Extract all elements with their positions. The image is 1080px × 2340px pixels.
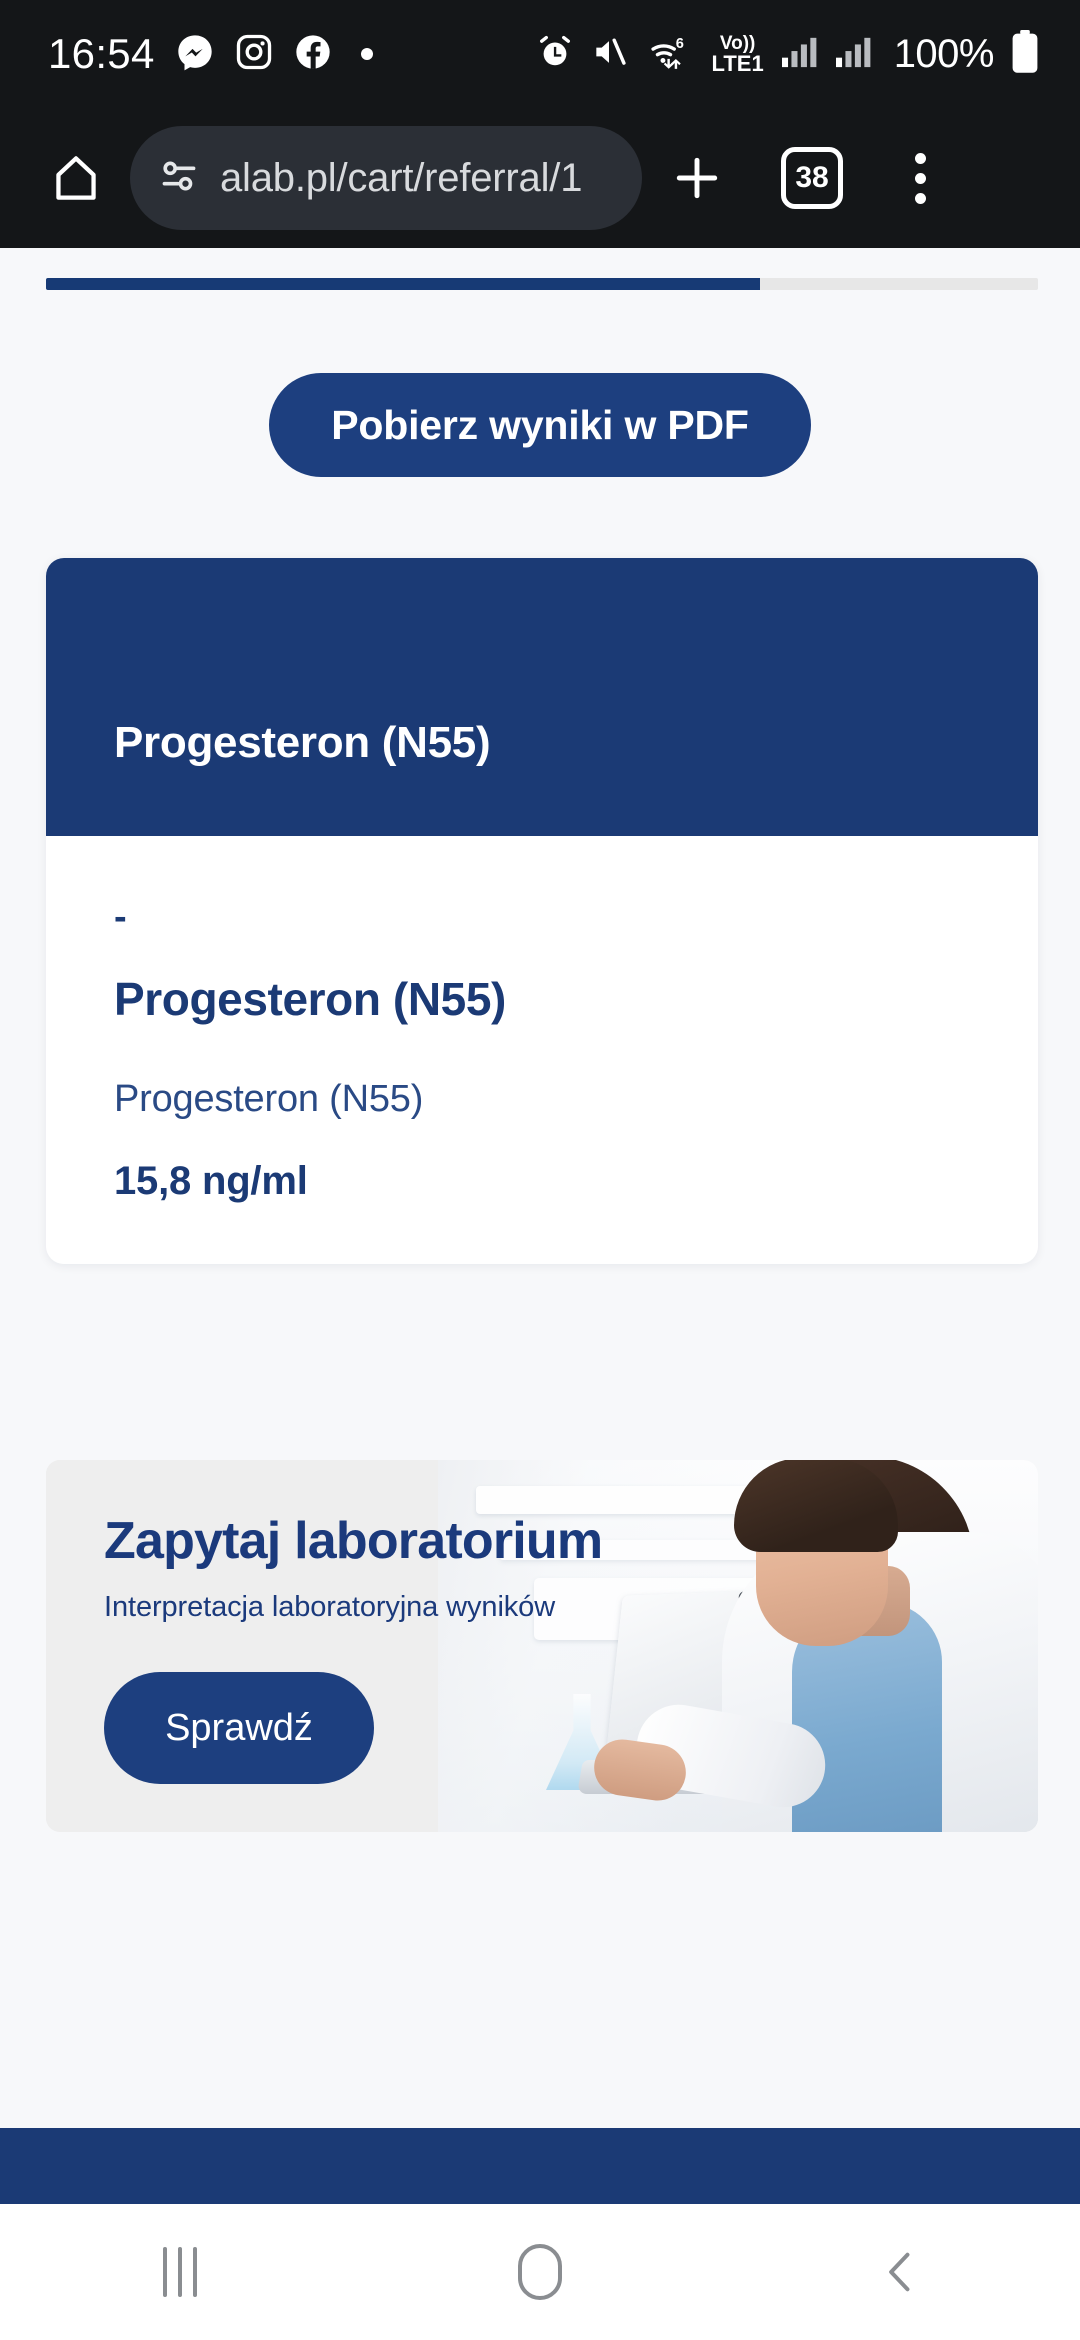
- url-bar[interactable]: alab.pl/cart/referral/1: [130, 126, 642, 230]
- menu-dot: [915, 193, 926, 204]
- plus-icon[interactable]: [642, 130, 752, 226]
- banner-title: Zapytaj laboratorium: [104, 1514, 724, 1569]
- tab-switcher-button[interactable]: 38: [752, 130, 872, 226]
- result-card-header: Progesteron (N55): [46, 558, 1038, 836]
- dot-icon: [361, 48, 373, 60]
- status-bar-left: 16:54: [48, 32, 373, 77]
- ask-lab-banner[interactable]: Zapytaj laboratorium Interpretacja labor…: [46, 1460, 1038, 1832]
- recents-bar: [163, 2247, 167, 2297]
- result-card-header-title: Progesteron (N55): [114, 718, 490, 768]
- mute-icon: [590, 33, 628, 76]
- android-status-bar: 16:54 6: [0, 0, 1080, 108]
- instagram-icon: [235, 33, 273, 76]
- back-chevron-icon[interactable]: [810, 2204, 990, 2340]
- svg-text:6: 6: [675, 35, 683, 51]
- download-pdf-button[interactable]: Pobierz wyniki w PDF: [269, 373, 810, 477]
- battery-percent-label: 100%: [894, 32, 994, 77]
- status-bar-clock: 16:54: [48, 33, 155, 75]
- facebook-icon: [293, 32, 333, 77]
- result-card: Progesteron (N55) - Progesteron (N55) Pr…: [46, 558, 1038, 1264]
- banner-text-block: Zapytaj laboratorium Interpretacja labor…: [104, 1514, 724, 1624]
- browser-toolbar: alab.pl/cart/referral/1 38: [0, 108, 1080, 248]
- messenger-icon: [175, 32, 215, 77]
- signal-sim1-icon: [780, 35, 818, 74]
- home-pill-icon[interactable]: [450, 2204, 630, 2340]
- phone-screen: 16:54 6: [0, 0, 1080, 2340]
- recents-bar: [178, 2247, 182, 2297]
- banner-subtitle: Interpretacja laboratoryjna wyników: [104, 1591, 724, 1624]
- tab-count-label: 38: [781, 147, 843, 209]
- android-nav-bar: [0, 2204, 1080, 2340]
- results-progress-bar: [46, 278, 1038, 290]
- web-page-viewport: Pobierz wyniki w PDF Progesteron (N55) -…: [0, 248, 1080, 2128]
- signal-sim2-icon: [834, 35, 872, 74]
- recents-glyph: [163, 2247, 197, 2297]
- result-value: 15,8 ng/ml: [114, 1159, 970, 1204]
- result-test-name: Progesteron (N55): [114, 972, 970, 1026]
- result-parameter-name: Progesteron (N55): [114, 1078, 970, 1121]
- scientist-hair-front: [734, 1460, 898, 1552]
- progress-bar-fill: [46, 278, 760, 290]
- home-icon[interactable]: [28, 130, 124, 226]
- wifi-icon: 6: [644, 32, 696, 77]
- menu-dot: [915, 173, 926, 184]
- recents-bar: [193, 2247, 197, 2297]
- result-card-body: - Progesteron (N55) Progesteron (N55) 15…: [46, 836, 1038, 1264]
- battery-full-icon: [1010, 30, 1040, 79]
- alarm-icon: [536, 33, 574, 76]
- site-footer-strip: [0, 2128, 1080, 2204]
- home-glyph: [518, 2244, 562, 2300]
- recents-icon[interactable]: [90, 2204, 270, 2340]
- status-bar-right: 6 Vo)) LTE1 100%: [536, 30, 1040, 79]
- overflow-menu-icon[interactable]: [872, 130, 968, 226]
- menu-dot: [915, 153, 926, 164]
- site-settings-icon[interactable]: [156, 153, 202, 204]
- banner-check-button[interactable]: Sprawdź: [104, 1672, 374, 1784]
- url-text[interactable]: alab.pl/cart/referral/1: [220, 156, 582, 201]
- network-type-label: Vo)) LTE1: [712, 34, 764, 75]
- download-button-row: Pobierz wyniki w PDF: [0, 373, 1080, 477]
- result-dash: -: [114, 898, 970, 928]
